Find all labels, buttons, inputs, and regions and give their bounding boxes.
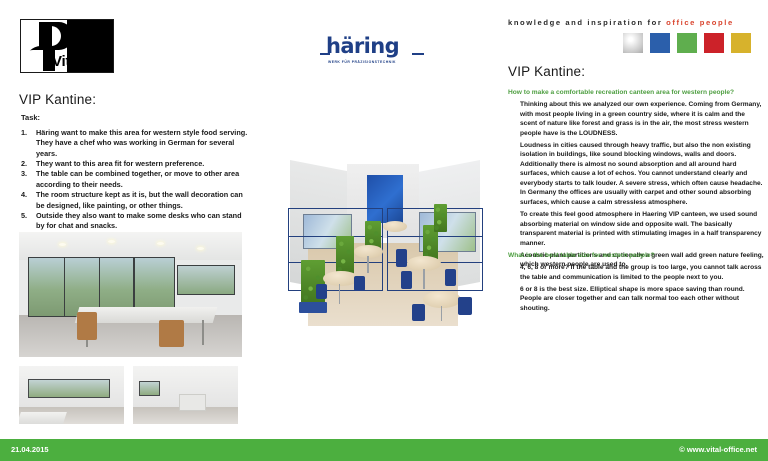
page-canvas: Vital-Office® VIP Kantine: Task: 1.Härin… bbox=[0, 0, 768, 461]
brand-swatches bbox=[623, 33, 751, 53]
round-table bbox=[383, 221, 407, 232]
task-number: 3. bbox=[21, 169, 27, 179]
section-paragraph: To create this feel good atmosphere in H… bbox=[508, 210, 764, 248]
section-paragraph: Loudness in cities caused through heavy … bbox=[508, 141, 764, 208]
right-section-2: What is the best table size for western … bbox=[508, 251, 764, 316]
chair bbox=[445, 269, 456, 286]
task-item: 4.The room structure kept as it is, but … bbox=[21, 190, 251, 211]
section-paragraph: Thinking about this we analyzed our own … bbox=[508, 100, 764, 138]
window-band bbox=[28, 379, 110, 399]
table-stem bbox=[441, 306, 443, 321]
vital-office-logo: Vital-Office® bbox=[20, 19, 114, 73]
footer-date: 21.04.2015 bbox=[11, 445, 49, 454]
side-window bbox=[177, 265, 235, 295]
logo-lower-cut bbox=[21, 50, 43, 72]
chair bbox=[396, 249, 407, 266]
task-item: 1.Häring want to make this area for west… bbox=[21, 128, 251, 159]
task-number: 2. bbox=[21, 159, 27, 169]
task-label: Task: bbox=[21, 113, 40, 122]
left-page-title: VIP Kantine: bbox=[19, 92, 96, 107]
canteen-room-photo bbox=[19, 232, 242, 357]
chair bbox=[77, 312, 97, 340]
room-illustration bbox=[19, 232, 242, 357]
canteen-counter-photo bbox=[133, 366, 238, 424]
task-list: 1.Häring want to make this area for west… bbox=[21, 128, 251, 232]
haering-logo: häring WERK FÜR PRÄZISIONSTECHNIK bbox=[320, 38, 424, 68]
brand-tagline-main: knowledge and inspiration for bbox=[508, 18, 662, 27]
chair bbox=[458, 297, 471, 314]
chair bbox=[401, 271, 412, 288]
planter-box bbox=[299, 302, 328, 313]
table-edge bbox=[19, 412, 67, 424]
brand-tagline: knowledge and inspiration for office peo… bbox=[508, 18, 734, 27]
thumb-room-illustration bbox=[133, 366, 238, 424]
task-text: Häring want to make this area for wester… bbox=[36, 128, 247, 158]
table-stem bbox=[423, 269, 425, 289]
thumb-room-illustration bbox=[19, 366, 124, 424]
swatch-green bbox=[677, 33, 697, 53]
ceiling bbox=[19, 232, 242, 260]
section-paragraph: 4, 6, 8 or more? If the table and the gr… bbox=[508, 263, 764, 282]
service-counter bbox=[179, 394, 206, 411]
green-wall bbox=[434, 204, 447, 232]
task-text: Outside they also want to make some desk… bbox=[36, 211, 242, 230]
chair bbox=[159, 320, 184, 348]
window bbox=[139, 381, 160, 396]
plant-partition bbox=[336, 236, 354, 275]
swatch-silver bbox=[623, 33, 643, 53]
chair bbox=[316, 284, 327, 299]
task-text: They want to this area fit for western p… bbox=[36, 159, 204, 168]
task-text: The room structure kept as it is, but th… bbox=[36, 190, 243, 209]
vital-office-wordmark: Vital-Office® bbox=[52, 54, 114, 69]
haering-wordmark: häring bbox=[326, 36, 399, 57]
section-paragraph: 6 or 8 is the best size. Elliptical shap… bbox=[508, 285, 764, 314]
swatch-blue bbox=[650, 33, 670, 53]
canteen-3d-render bbox=[272, 112, 494, 330]
task-item: 3.The table can be combined together, or… bbox=[21, 169, 251, 190]
table-stem bbox=[339, 284, 341, 304]
task-number: 4. bbox=[21, 190, 27, 200]
right-section-1: How to make a comfortable recreation can… bbox=[508, 88, 764, 272]
task-text: The table can be combined together, or m… bbox=[36, 169, 239, 188]
haering-tagline: WERK FÜR PRÄZISIONSTECHNIK bbox=[328, 60, 396, 64]
footer-copyright: © www.vital-office.net bbox=[679, 445, 757, 454]
chair bbox=[412, 304, 425, 321]
task-number: 1. bbox=[21, 128, 27, 138]
section-heading: What is the best table size for western … bbox=[508, 251, 764, 261]
section-heading: How to make a comfortable recreation can… bbox=[508, 88, 764, 98]
brand-tagline-accent: office people bbox=[666, 18, 734, 27]
table-stem bbox=[367, 256, 369, 273]
logo-rule-right bbox=[412, 53, 424, 55]
window-mullion bbox=[64, 258, 66, 316]
vital-office-wordmark-text: Vital-Office bbox=[52, 53, 114, 70]
canteen-window-photo bbox=[19, 366, 124, 424]
chair bbox=[354, 276, 365, 291]
task-item: 2.They want to this area fit for western… bbox=[21, 159, 251, 169]
swatch-gold bbox=[731, 33, 751, 53]
table-leg bbox=[202, 320, 204, 345]
swatch-red bbox=[704, 33, 724, 53]
ceiling-light bbox=[108, 240, 115, 243]
right-page-title: VIP Kantine: bbox=[508, 64, 585, 79]
footer-bar: 21.04.2015 © www.vital-office.net bbox=[0, 439, 768, 461]
task-number: 5. bbox=[21, 211, 27, 221]
task-item: 5.Outside they also want to make some de… bbox=[21, 211, 251, 232]
